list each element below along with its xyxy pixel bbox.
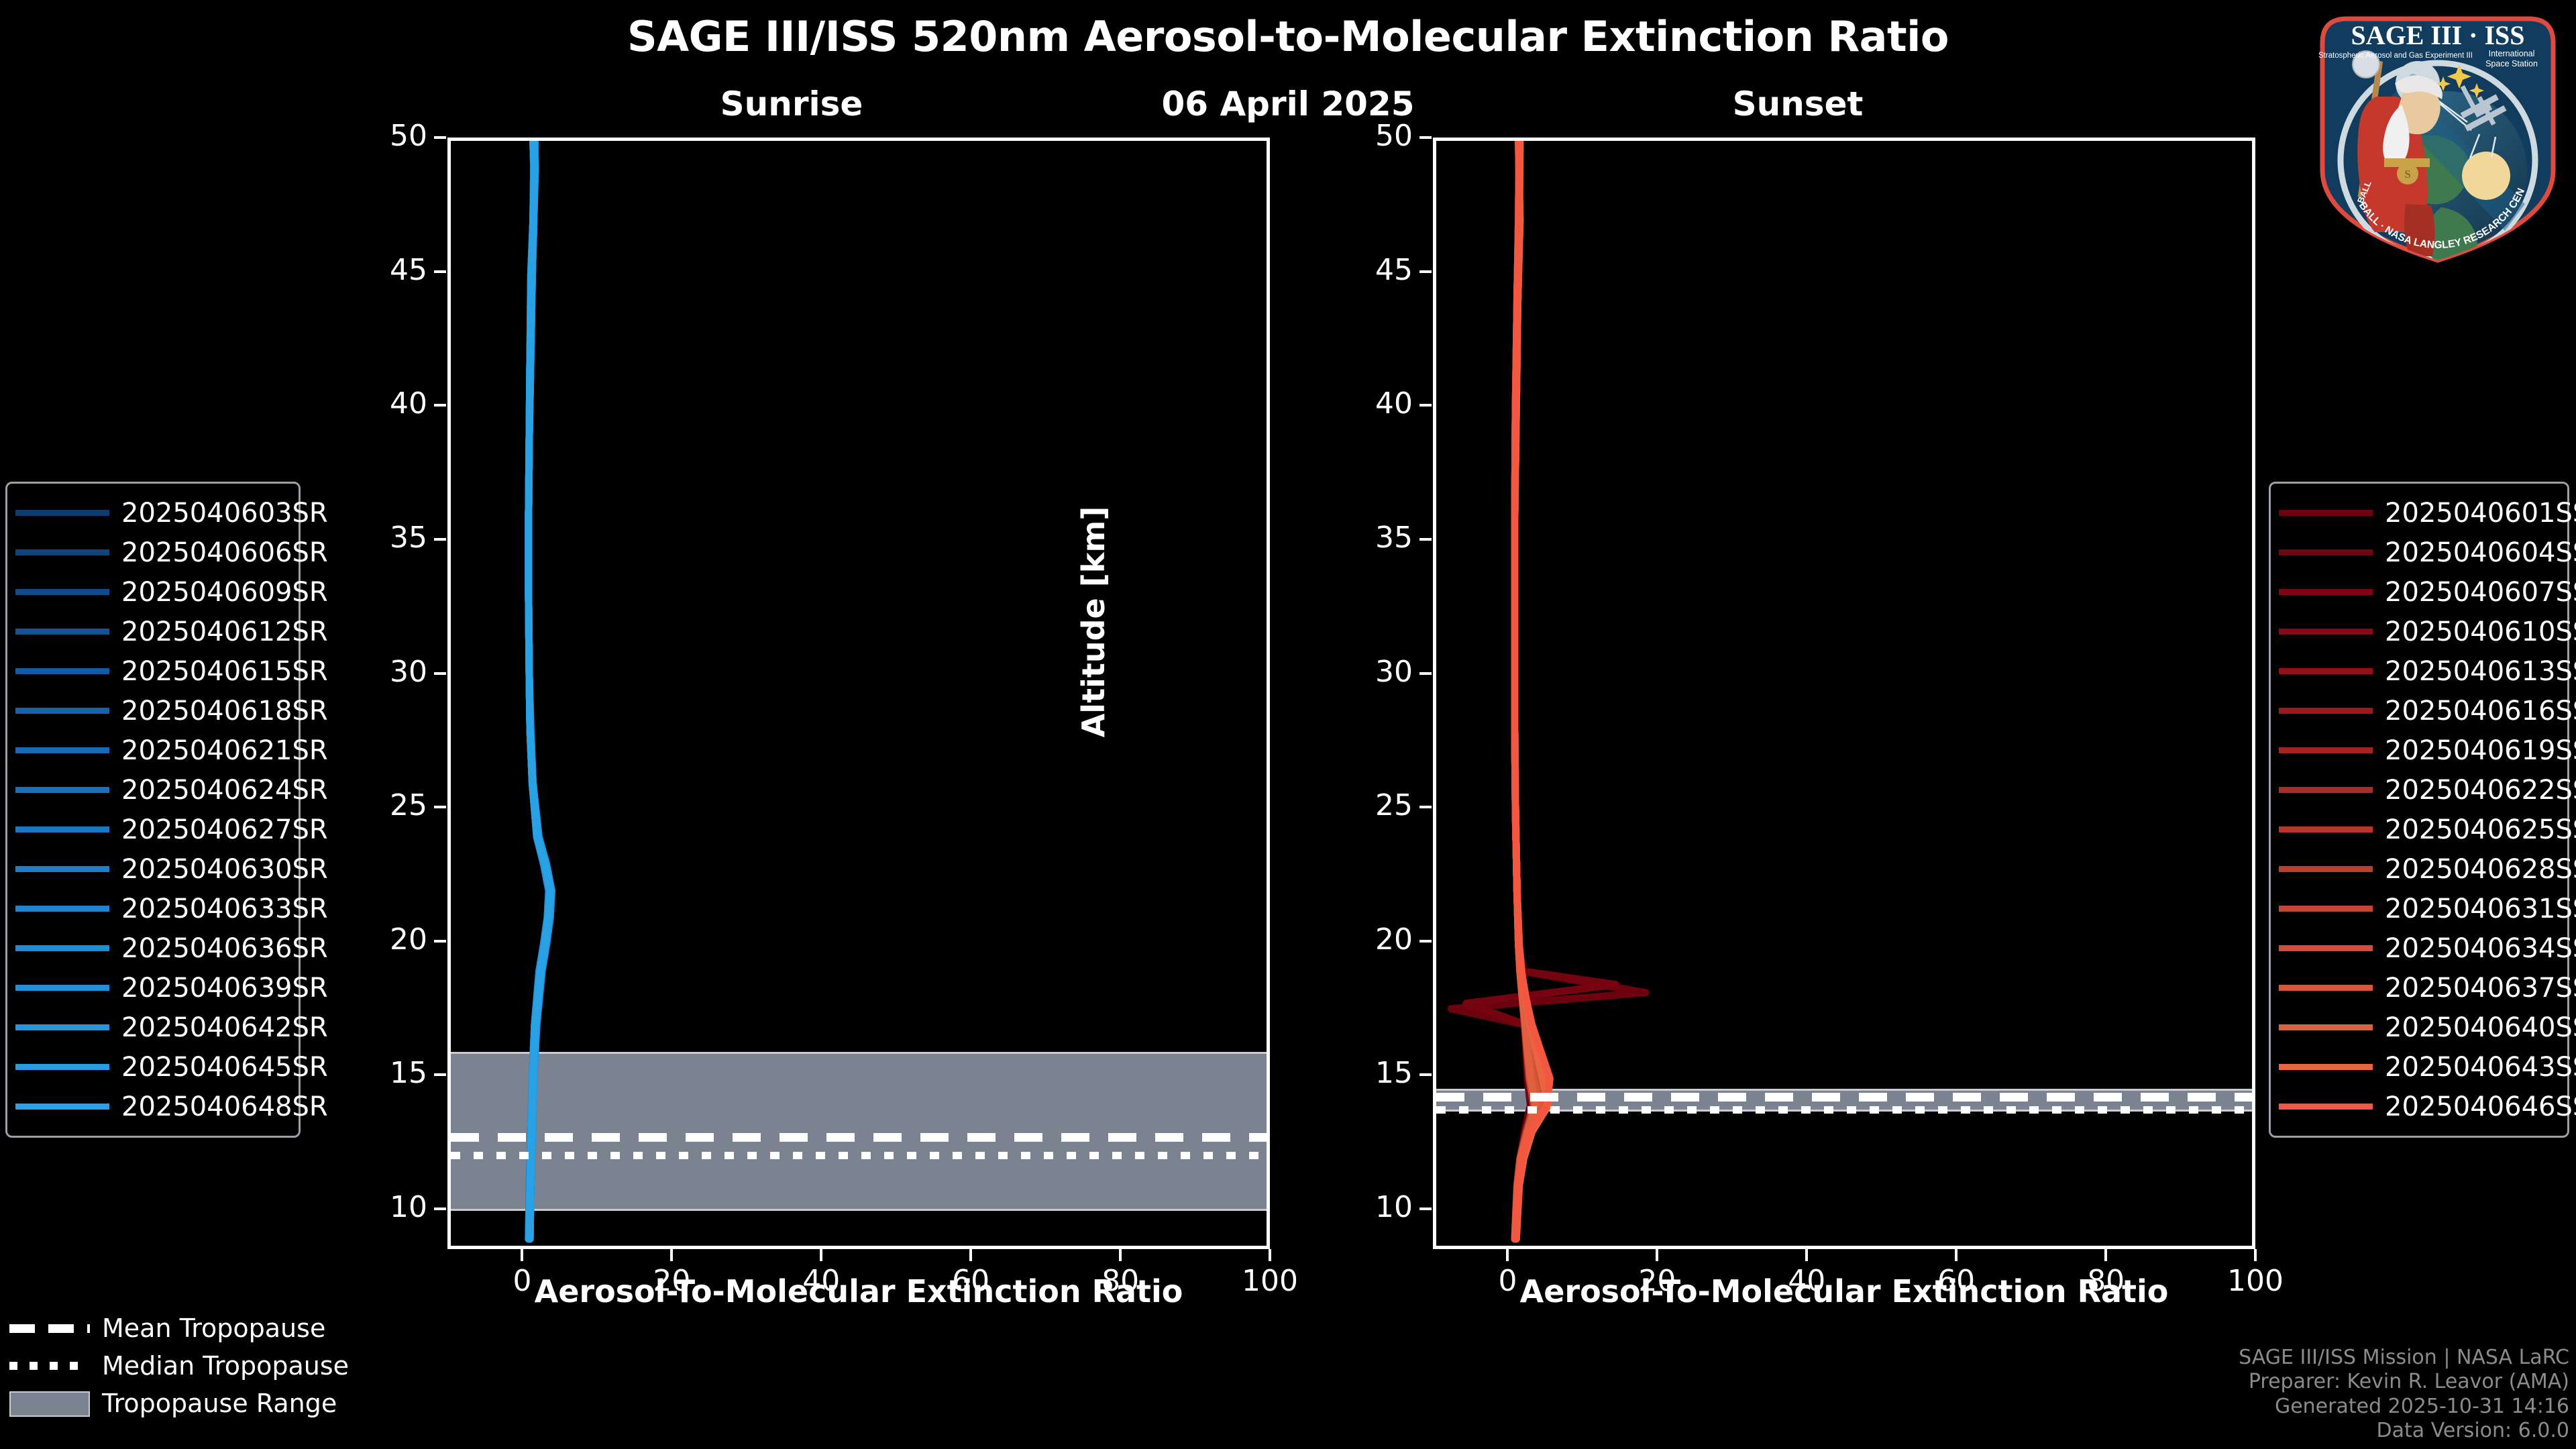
legend-item-median-tropopause: Median Tropopause: [9, 1347, 358, 1385]
legend-color-swatch: [2279, 629, 2373, 635]
legend-item-label: 2025040639SR: [121, 973, 328, 1004]
legend-item-label: 2025040636SR: [121, 933, 328, 964]
sunrise-plot-panel[interactable]: [447, 138, 1270, 1249]
y-tick-mark: [434, 1073, 446, 1076]
page-title: SAGE III/ISS 520nm Aerosol-to-Molecular …: [0, 12, 2576, 61]
legend-item[interactable]: 2025040612SR: [15, 612, 290, 651]
legend-color-swatch: [2279, 826, 2373, 833]
legend-item[interactable]: 2025040634SS: [2279, 928, 2559, 968]
legend-item[interactable]: 2025040636SR: [15, 928, 290, 968]
y-tick-mark: [1419, 270, 1432, 273]
legend-item[interactable]: 2025040630SR: [15, 849, 290, 889]
y-tick-label: 30: [1332, 655, 1413, 689]
legend-color-swatch: [15, 787, 109, 793]
legend-item[interactable]: 2025040640SS: [2279, 1008, 2559, 1047]
legend-color-swatch: [15, 589, 109, 595]
sunset-label: Sunset: [1664, 85, 1932, 123]
credits-block: SAGE III/ISS Mission | NASA LaRC Prepare…: [2239, 1346, 2569, 1444]
legend-item-label: 2025040612SR: [121, 616, 328, 647]
y-tick-label: 35: [1332, 521, 1413, 555]
legend-item[interactable]: 2025040645SR: [15, 1047, 290, 1087]
y-tick-label: 20: [347, 922, 427, 957]
legend-item-label: 2025040648SR: [121, 1091, 328, 1122]
legend-item-label: 2025040621SR: [121, 735, 328, 766]
legend-color-swatch: [15, 826, 109, 833]
y-tick-mark: [1419, 136, 1432, 139]
legend-item[interactable]: 2025040622SS: [2279, 770, 2559, 810]
legend-item[interactable]: 2025040631SS: [2279, 889, 2559, 928]
y-tick-label: 15: [1332, 1056, 1413, 1090]
legend-color-swatch: [2279, 787, 2373, 793]
legend-item[interactable]: 2025040618SR: [15, 691, 290, 731]
legend-color-swatch: [15, 985, 109, 991]
y-tick-label: 50: [347, 119, 427, 153]
legend-item[interactable]: 2025040625SS: [2279, 810, 2559, 849]
mean-tropopause-label: Mean Tropopause: [102, 1313, 325, 1343]
legend-item-label: 2025040610SS: [2385, 616, 2576, 647]
y-tick-mark: [434, 136, 446, 139]
mean-tropopause-line: [1436, 1093, 2252, 1102]
legend-item-label: 2025040616SS: [2385, 696, 2576, 727]
median-tropopause-line: [1436, 1106, 2252, 1114]
x-tick-mark: [1955, 1249, 1957, 1261]
x-tick-label: 100: [1216, 1264, 1324, 1298]
y-axis-label-right: Altitude [km]: [1075, 488, 1112, 756]
y-tick-label: 10: [347, 1190, 427, 1224]
legend-item[interactable]: 2025040627SR: [15, 810, 290, 849]
legend-item-mean-tropopause: Mean Tropopause: [9, 1309, 358, 1347]
legend-item-label: 2025040613SS: [2385, 656, 2576, 687]
legend-item-label: 2025040633SR: [121, 894, 328, 924]
x-tick-mark: [1805, 1249, 1808, 1261]
x-tick-label: 60: [1902, 1264, 2010, 1298]
credits-line-2: Preparer: Kevin R. Leavor (AMA): [2239, 1370, 2569, 1395]
legend-item-label: 2025040604SS: [2385, 537, 2576, 568]
x-tick-label: 0: [468, 1264, 576, 1298]
median-tropopause-key-icon: [9, 1358, 90, 1374]
logo-subtitle-right-1: International: [2489, 49, 2535, 58]
legend-item[interactable]: 2025040648SR: [15, 1087, 290, 1126]
svg-text:S: S: [2404, 168, 2410, 180]
legend-item-label: 2025040624SR: [121, 775, 328, 806]
x-tick-label: 0: [1454, 1264, 1561, 1298]
legend-color-swatch: [2279, 985, 2373, 991]
legend-color-swatch: [15, 549, 109, 555]
legend-item[interactable]: 2025040607SS: [2279, 572, 2559, 612]
x-tick-mark: [670, 1249, 673, 1261]
x-tick-mark: [969, 1249, 972, 1261]
legend-item-label: 2025040609SR: [121, 577, 328, 608]
legend-item-label: 2025040630SR: [121, 854, 328, 885]
legend-color-swatch: [15, 1064, 109, 1070]
y-tick-label: 35: [347, 521, 427, 555]
x-tick-mark: [2104, 1249, 2107, 1261]
legend-color-swatch: [15, 906, 109, 912]
sunrise-label: Sunrise: [657, 85, 926, 123]
y-tick-mark: [1419, 538, 1432, 541]
x-tick-mark: [521, 1249, 523, 1261]
y-tick-label: 20: [1332, 922, 1413, 957]
y-tick-label: 45: [347, 253, 427, 287]
logo-subtitle-left: Stratospheric Aerosol and Gas Experiment…: [2318, 52, 2473, 60]
legend-color-swatch: [15, 945, 109, 951]
sunset-traces: [1436, 141, 2252, 1246]
y-tick-mark: [1419, 1073, 1432, 1076]
date-label: 06 April 2025: [1033, 85, 1543, 123]
tropopause-range-key-icon: [9, 1395, 90, 1411]
legend-item-tropopause-range: Tropopause Range: [9, 1385, 358, 1422]
tropopause-legend: Mean Tropopause Median Tropopause Tropop…: [9, 1309, 358, 1422]
y-tick-mark: [1419, 404, 1432, 407]
legend-color-swatch: [2279, 668, 2373, 674]
y-tick-label: 40: [347, 386, 427, 421]
legend-item-label: 2025040646SS: [2385, 1091, 2576, 1122]
y-tick-mark: [434, 806, 446, 808]
x-tick-label: 20: [618, 1264, 725, 1298]
median-tropopause-line: [451, 1152, 1267, 1159]
legend-color-swatch: [15, 747, 109, 753]
mean-tropopause-line: [451, 1133, 1267, 1142]
legend-item[interactable]: 2025040613SS: [2279, 651, 2559, 691]
legend-item[interactable]: 2025040637SS: [2279, 968, 2559, 1008]
legend-item[interactable]: 2025040624SR: [15, 770, 290, 810]
legend-item-label: 2025040607SS: [2385, 577, 2576, 608]
legend-color-swatch: [15, 629, 109, 635]
legend-item[interactable]: 2025040609SR: [15, 572, 290, 612]
legend-item[interactable]: 2025040603SR: [15, 493, 290, 533]
legend-color-swatch: [2279, 1024, 2373, 1030]
y-tick-mark: [434, 672, 446, 675]
y-tick-label: 10: [1332, 1190, 1413, 1224]
legend-color-swatch: [2279, 866, 2373, 872]
y-tick-mark: [1419, 1207, 1432, 1210]
x-tick-mark: [820, 1249, 822, 1261]
sage-iii-iss-mission-patch-icon: S BALL BALL · NASA LANGLEY RESEARCH CENT…: [2304, 3, 2572, 271]
y-tick-label: 25: [347, 788, 427, 822]
legend-item-label: 2025040603SR: [121, 498, 328, 529]
legend-item[interactable]: 2025040643SS: [2279, 1047, 2559, 1087]
x-tick-mark: [1119, 1249, 1122, 1261]
legend-color-swatch: [2279, 708, 2373, 714]
legend-item-label: 2025040642SR: [121, 1012, 328, 1043]
x-tick-mark: [1656, 1249, 1658, 1261]
x-tick-label: 100: [2202, 1264, 2309, 1298]
legend-color-swatch: [2279, 1064, 2373, 1070]
series-trace: [529, 141, 550, 1239]
legend-item-label: 2025040606SR: [121, 537, 328, 568]
x-tick-mark: [1506, 1249, 1509, 1261]
legend-color-swatch: [2279, 945, 2373, 951]
y-tick-label: 25: [1332, 788, 1413, 822]
legend-item[interactable]: 2025040633SR: [15, 889, 290, 928]
legend-item[interactable]: 2025040615SR: [15, 651, 290, 691]
y-tick-mark: [434, 270, 446, 273]
legend-item[interactable]: 2025040621SR: [15, 731, 290, 770]
sunrise-traces: [451, 141, 1267, 1246]
legend-item[interactable]: 2025040619SS: [2279, 731, 2559, 770]
median-tropopause-label: Median Tropopause: [102, 1351, 349, 1381]
legend-item[interactable]: 2025040616SS: [2279, 691, 2559, 731]
legend-item-label: 2025040627SR: [121, 814, 328, 845]
y-tick-mark: [434, 1207, 446, 1210]
sunset-plot-panel[interactable]: [1433, 138, 2255, 1249]
legend-item-label: 2025040640SS: [2385, 1012, 2576, 1043]
y-tick-mark: [1419, 806, 1432, 808]
logo-title: SAGE III · ISS: [2351, 20, 2524, 50]
legend-item[interactable]: 2025040642SR: [15, 1008, 290, 1047]
legend-color-swatch: [2279, 1104, 2373, 1110]
legend-color-swatch: [2279, 510, 2373, 516]
legend-item-label: 2025040631SS: [2385, 894, 2576, 924]
legend-item[interactable]: 2025040639SR: [15, 968, 290, 1008]
legend-color-swatch: [2279, 747, 2373, 753]
y-tick-mark: [1419, 672, 1432, 675]
credits-line-3: Generated 2025-10-31 14:16: [2239, 1395, 2569, 1419]
y-tick-label: 40: [1332, 386, 1413, 421]
legend-item-label: 2025040622SS: [2385, 775, 2576, 806]
legend-color-swatch: [15, 668, 109, 674]
y-tick-mark: [434, 538, 446, 541]
credits-line-1: SAGE III/ISS Mission | NASA LaRC: [2239, 1346, 2569, 1371]
legend-item[interactable]: 2025040601SS: [2279, 493, 2559, 533]
legend-item-label: 2025040615SR: [121, 656, 328, 687]
legend-item-label: 2025040645SR: [121, 1052, 328, 1083]
legend-color-swatch: [15, 866, 109, 872]
x-tick-label: 20: [1603, 1264, 1711, 1298]
legend-item[interactable]: 2025040606SR: [15, 533, 290, 572]
sunset-legend[interactable]: 2025040601SS2025040604SS2025040607SS2025…: [2269, 482, 2569, 1138]
x-tick-label: 80: [2052, 1264, 2159, 1298]
legend-item[interactable]: 2025040628SS: [2279, 849, 2559, 889]
x-tick-label: 40: [1753, 1264, 1860, 1298]
x-tick-mark: [1269, 1249, 1271, 1261]
legend-item[interactable]: 2025040610SS: [2279, 612, 2559, 651]
tropopause-range-label: Tropopause Range: [102, 1389, 337, 1418]
x-tick-label: 80: [1067, 1264, 1174, 1298]
y-tick-label: 45: [1332, 253, 1413, 287]
legend-item-label: 2025040634SS: [2385, 933, 2576, 964]
y-tick-label: 30: [347, 655, 427, 689]
legend-item[interactable]: 2025040646SS: [2279, 1087, 2559, 1126]
legend-item-label: 2025040619SS: [2385, 735, 2576, 766]
mean-tropopause-key-icon: [9, 1320, 90, 1336]
legend-item-label: 2025040601SS: [2385, 498, 2576, 529]
legend-color-swatch: [2279, 906, 2373, 912]
legend-color-swatch: [15, 1024, 109, 1030]
y-tick-mark: [434, 404, 446, 407]
logo-subtitle-right-2: Space Station: [2485, 59, 2538, 68]
x-tick-label: 60: [917, 1264, 1024, 1298]
credits-line-4: Data Version: 6.0.0: [2239, 1419, 2569, 1444]
legend-item-label: 2025040625SS: [2385, 814, 2576, 845]
y-tick-mark: [434, 940, 446, 943]
y-tick-label: 15: [347, 1056, 427, 1090]
legend-color-swatch: [2279, 549, 2373, 555]
legend-color-swatch: [2279, 589, 2373, 595]
legend-item-label: 2025040628SS: [2385, 854, 2576, 885]
legend-color-swatch: [15, 708, 109, 714]
y-tick-mark: [1419, 940, 1432, 943]
legend-item[interactable]: 2025040604SS: [2279, 533, 2559, 572]
x-tick-mark: [2254, 1249, 2257, 1261]
legend-color-swatch: [15, 510, 109, 516]
sunrise-legend[interactable]: 2025040603SR2025040606SR2025040609SR2025…: [5, 482, 301, 1138]
legend-item-label: 2025040618SR: [121, 696, 328, 727]
y-tick-label: 50: [1332, 119, 1413, 153]
x-tick-label: 40: [767, 1264, 875, 1298]
legend-item-label: 2025040637SS: [2385, 973, 2576, 1004]
legend-item-label: 2025040643SS: [2385, 1052, 2576, 1083]
legend-color-swatch: [15, 1104, 109, 1110]
